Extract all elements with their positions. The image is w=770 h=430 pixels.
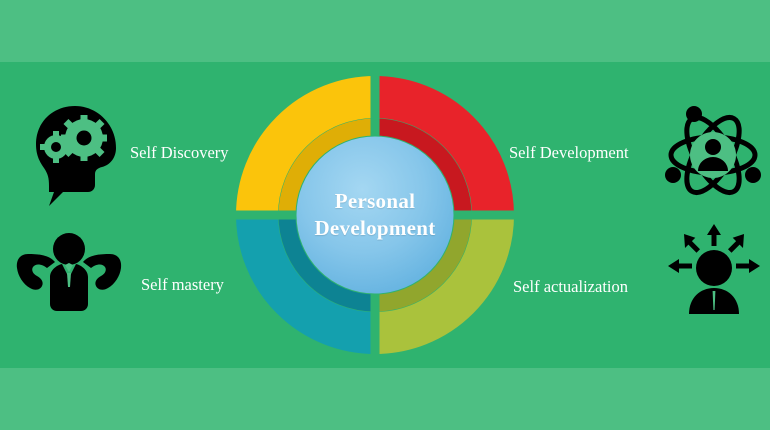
donut-chart bbox=[235, 75, 515, 355]
label-self-actualization: Self actualization bbox=[513, 277, 628, 297]
background-band-top bbox=[0, 0, 770, 62]
label-self-development: Self Development bbox=[509, 143, 629, 163]
strong-person-icon bbox=[14, 232, 124, 314]
growth-arrows-person-icon bbox=[668, 224, 760, 314]
infographic-canvas: Personal Development Self Discovery Self… bbox=[0, 0, 770, 430]
label-self-mastery: Self mastery bbox=[141, 275, 224, 295]
head-gears-icon bbox=[26, 100, 124, 208]
label-self-discovery: Self Discovery bbox=[130, 143, 229, 163]
donut-core bbox=[297, 137, 454, 294]
background-band-bottom bbox=[0, 368, 770, 430]
atom-person-icon bbox=[664, 103, 762, 203]
